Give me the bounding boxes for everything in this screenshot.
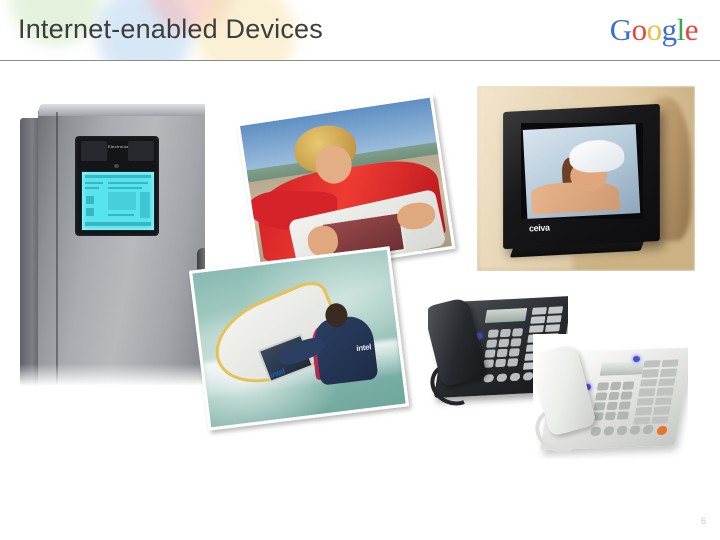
fridge-touchscreen <box>81 171 155 231</box>
header-divider <box>0 60 720 61</box>
fridge-bottom-fade <box>20 364 205 390</box>
fridge-door-seam <box>56 112 58 384</box>
page-title: Internet-enabled Devices <box>18 14 323 45</box>
image-surfer-with-board-screen <box>237 94 456 278</box>
fridge-top-edge <box>38 104 205 116</box>
image-white-voip-desk-phone <box>533 334 688 459</box>
page-number: 6 <box>701 516 706 526</box>
black-phone-keypad <box>483 328 523 368</box>
white-phone-message-led-icon <box>633 356 640 362</box>
google-logo: Google <box>610 14 698 45</box>
white-phone-lcd-display <box>600 361 645 375</box>
wetsuit-intel-logo: intel <box>356 342 372 353</box>
image-intel-surfboard-in-water: intel intel <box>189 246 409 430</box>
fridge-brand-label: Electrolux <box>108 144 154 149</box>
image-electrolux-screenfridge: Electrolux <box>20 100 205 390</box>
slide-canvas: Internet-enabled Devices Google Electrol… <box>0 0 720 540</box>
fridge-camera-icon <box>114 164 119 168</box>
photo-subject-hat <box>569 139 625 174</box>
google-logo-letter-o2: o <box>647 12 662 47</box>
slide-header: Internet-enabled Devices Google <box>0 0 720 61</box>
google-logo-letter-l: l <box>677 12 685 47</box>
fridge-speaker-left-icon <box>81 141 107 161</box>
image-ceiva-digital-photo-frame: ceiva <box>477 86 695 271</box>
black-phone-lcd-display <box>485 308 527 323</box>
ceiva-displayed-photo <box>523 124 641 219</box>
google-logo-letter-e: e <box>685 12 698 47</box>
google-logo-letter-o1: o <box>632 12 647 47</box>
google-logo-letter-g1: G <box>610 12 632 47</box>
white-phone-keypad <box>592 381 635 420</box>
ceiva-brand-label: ceiva <box>529 222 550 233</box>
google-logo-letter-g2: g <box>662 12 677 47</box>
